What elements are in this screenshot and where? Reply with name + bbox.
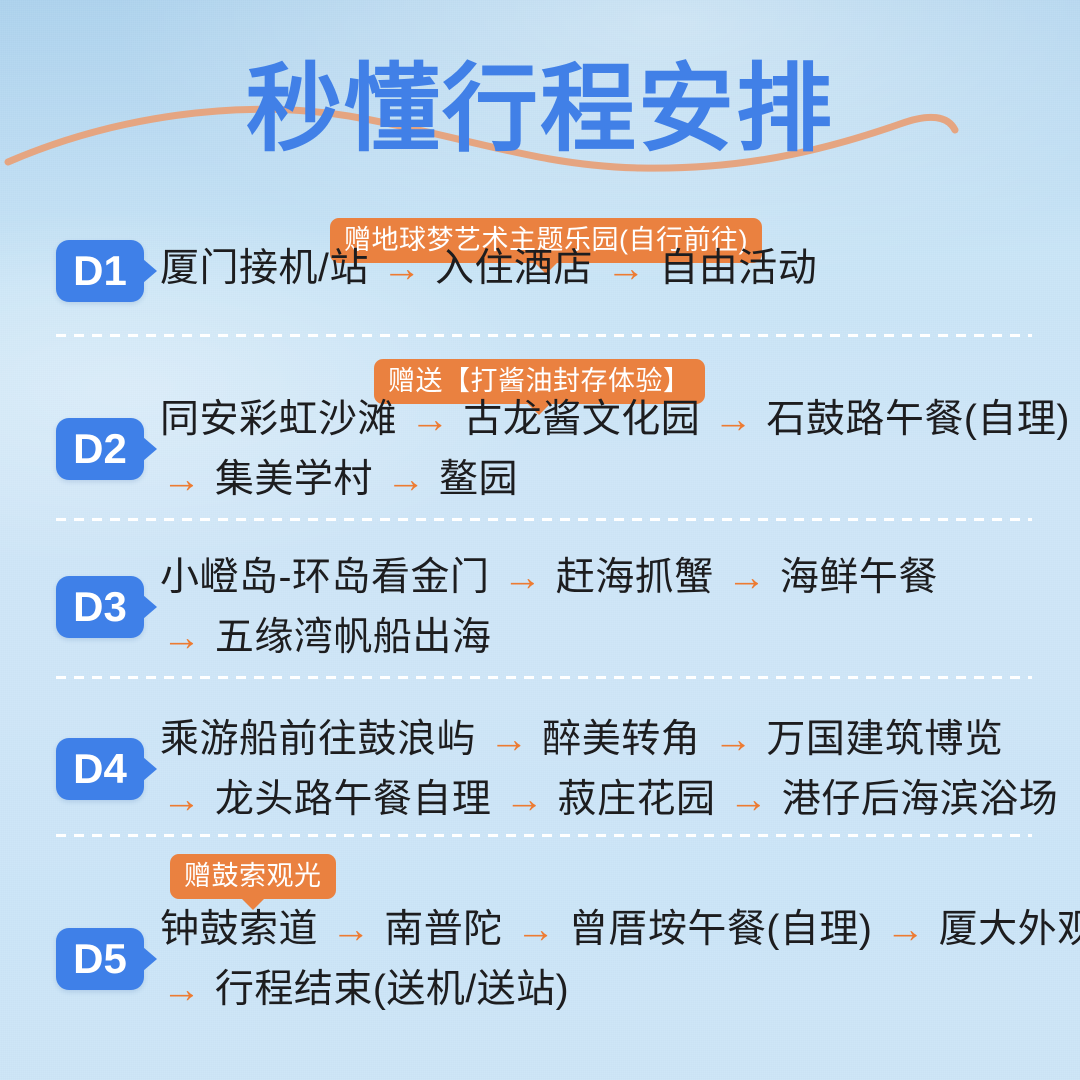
arrow-icon: → [604, 247, 648, 290]
stop-label: 石鼓路午餐(自理) [766, 398, 1069, 441]
stop-label: 曾厝垵午餐(自理) [569, 908, 872, 951]
day-tag-d5: 赠鼓索观光 [170, 854, 336, 899]
itinerary-line: → 行程结束(送机/送站) [160, 960, 1070, 1020]
arrow-icon: → [712, 718, 756, 761]
itinerary-line: 乘游船前往鼓浪屿 → 醉美转角 → 万国建筑博览 [160, 710, 1070, 770]
arrow-icon: → [712, 398, 756, 441]
stop-label: 万国建筑博览 [766, 718, 1003, 761]
arrow-icon: → [329, 908, 373, 951]
arrow-icon: → [727, 778, 771, 821]
itinerary-line: 厦门接机/站 → 入住酒店 → 自由活动 [160, 239, 1070, 299]
itinerary-line: 小嶝岛-环岛看金门 → 赶海抓蟹 → 海鲜午餐 [160, 548, 1070, 608]
row-separator [56, 518, 1032, 521]
arrow-icon: → [408, 398, 452, 441]
itinerary-line: → 集美学村 → 鳌园 [160, 450, 1070, 510]
arrow-icon: → [160, 968, 204, 1011]
itinerary-line: → 龙头路午餐自理 → 菽庄花园 → 港仔后海滨浴场 [160, 770, 1070, 830]
arrow-icon: → [384, 458, 428, 501]
day-badge-d2: D2 [56, 418, 144, 480]
stop-label: 厦大外观 [939, 908, 1080, 951]
day-lines-d4: 乘游船前往鼓浪屿 → 醉美转角 → 万国建筑博览 → 龙头路午餐自理 → 菽庄花… [160, 710, 1070, 830]
stop-label: 赶海抓蟹 [556, 556, 714, 599]
stop-label: 行程结束(送机/送站) [215, 968, 569, 1011]
stop-label: 菽庄花园 [558, 778, 716, 821]
stop-label: 鳌园 [439, 458, 518, 501]
itinerary-line: 钟鼓索道 → 南普陀 → 曾厝垵午餐(自理) → 厦大外观 [160, 900, 1070, 960]
arrow-icon: → [501, 556, 545, 599]
arrow-icon: → [380, 247, 424, 290]
stop-label: 龙头路午餐自理 [215, 778, 492, 821]
arrow-icon: → [487, 718, 531, 761]
arrow-icon: → [160, 616, 204, 659]
row-separator [56, 334, 1032, 337]
day-badge-d1: D1 [56, 240, 144, 302]
arrow-icon: → [160, 778, 204, 821]
stop-label: 五缘湾帆船出海 [215, 616, 492, 659]
day-badge-d4: D4 [56, 738, 144, 800]
arrow-icon: → [725, 556, 769, 599]
stop-label: 厦门接机/站 [160, 247, 369, 290]
day-lines-d3: 小嶝岛-环岛看金门 → 赶海抓蟹 → 海鲜午餐 → 五缘湾帆船出海 [160, 548, 1070, 668]
day-lines-d2: 同安彩虹沙滩 → 古龙酱文化园 → 石鼓路午餐(自理) → 集美学村 → 鳌园 [160, 390, 1070, 510]
arrow-icon: → [514, 908, 558, 951]
arrow-icon: → [160, 458, 204, 501]
stop-label: 醉美转角 [542, 718, 700, 761]
stop-label: 同安彩虹沙滩 [160, 398, 397, 441]
stop-label: 入住酒店 [435, 247, 593, 290]
stop-label: 小嶝岛-环岛看金门 [160, 556, 490, 599]
stop-label: 港仔后海滨浴场 [782, 778, 1059, 821]
itinerary-poster: 秒懂行程安排 赠地球梦艺术主题乐园(自行前往) D1 厦门接机/站 → 入住酒店… [0, 0, 1080, 1080]
row-separator [56, 676, 1032, 679]
arrow-icon: → [503, 778, 547, 821]
page-title: 秒懂行程安排 [0, 58, 1080, 162]
itinerary-line: → 五缘湾帆船出海 [160, 608, 1070, 668]
stop-label: 乘游船前往鼓浪屿 [160, 718, 476, 761]
stop-label: 钟鼓索道 [160, 908, 318, 951]
day-badge-d3: D3 [56, 576, 144, 638]
day-lines-d1: 厦门接机/站 → 入住酒店 → 自由活动 [160, 239, 1070, 299]
stop-label: 海鲜午餐 [780, 556, 938, 599]
stop-label: 南普陀 [384, 908, 503, 951]
stop-label: 古龙酱文化园 [463, 398, 700, 441]
itinerary-line: 同安彩虹沙滩 → 古龙酱文化园 → 石鼓路午餐(自理) [160, 390, 1070, 450]
day-lines-d5: 钟鼓索道 → 南普陀 → 曾厝垵午餐(自理) → 厦大外观 → 行程结束(送机/… [160, 900, 1070, 1020]
stop-label: 自由活动 [659, 247, 817, 290]
arrow-icon: → [884, 908, 928, 951]
row-separator [56, 834, 1032, 837]
poster-header: 秒懂行程安排 [0, 0, 1080, 200]
stop-label: 集美学村 [215, 458, 373, 501]
day-badge-d5: D5 [56, 928, 144, 990]
